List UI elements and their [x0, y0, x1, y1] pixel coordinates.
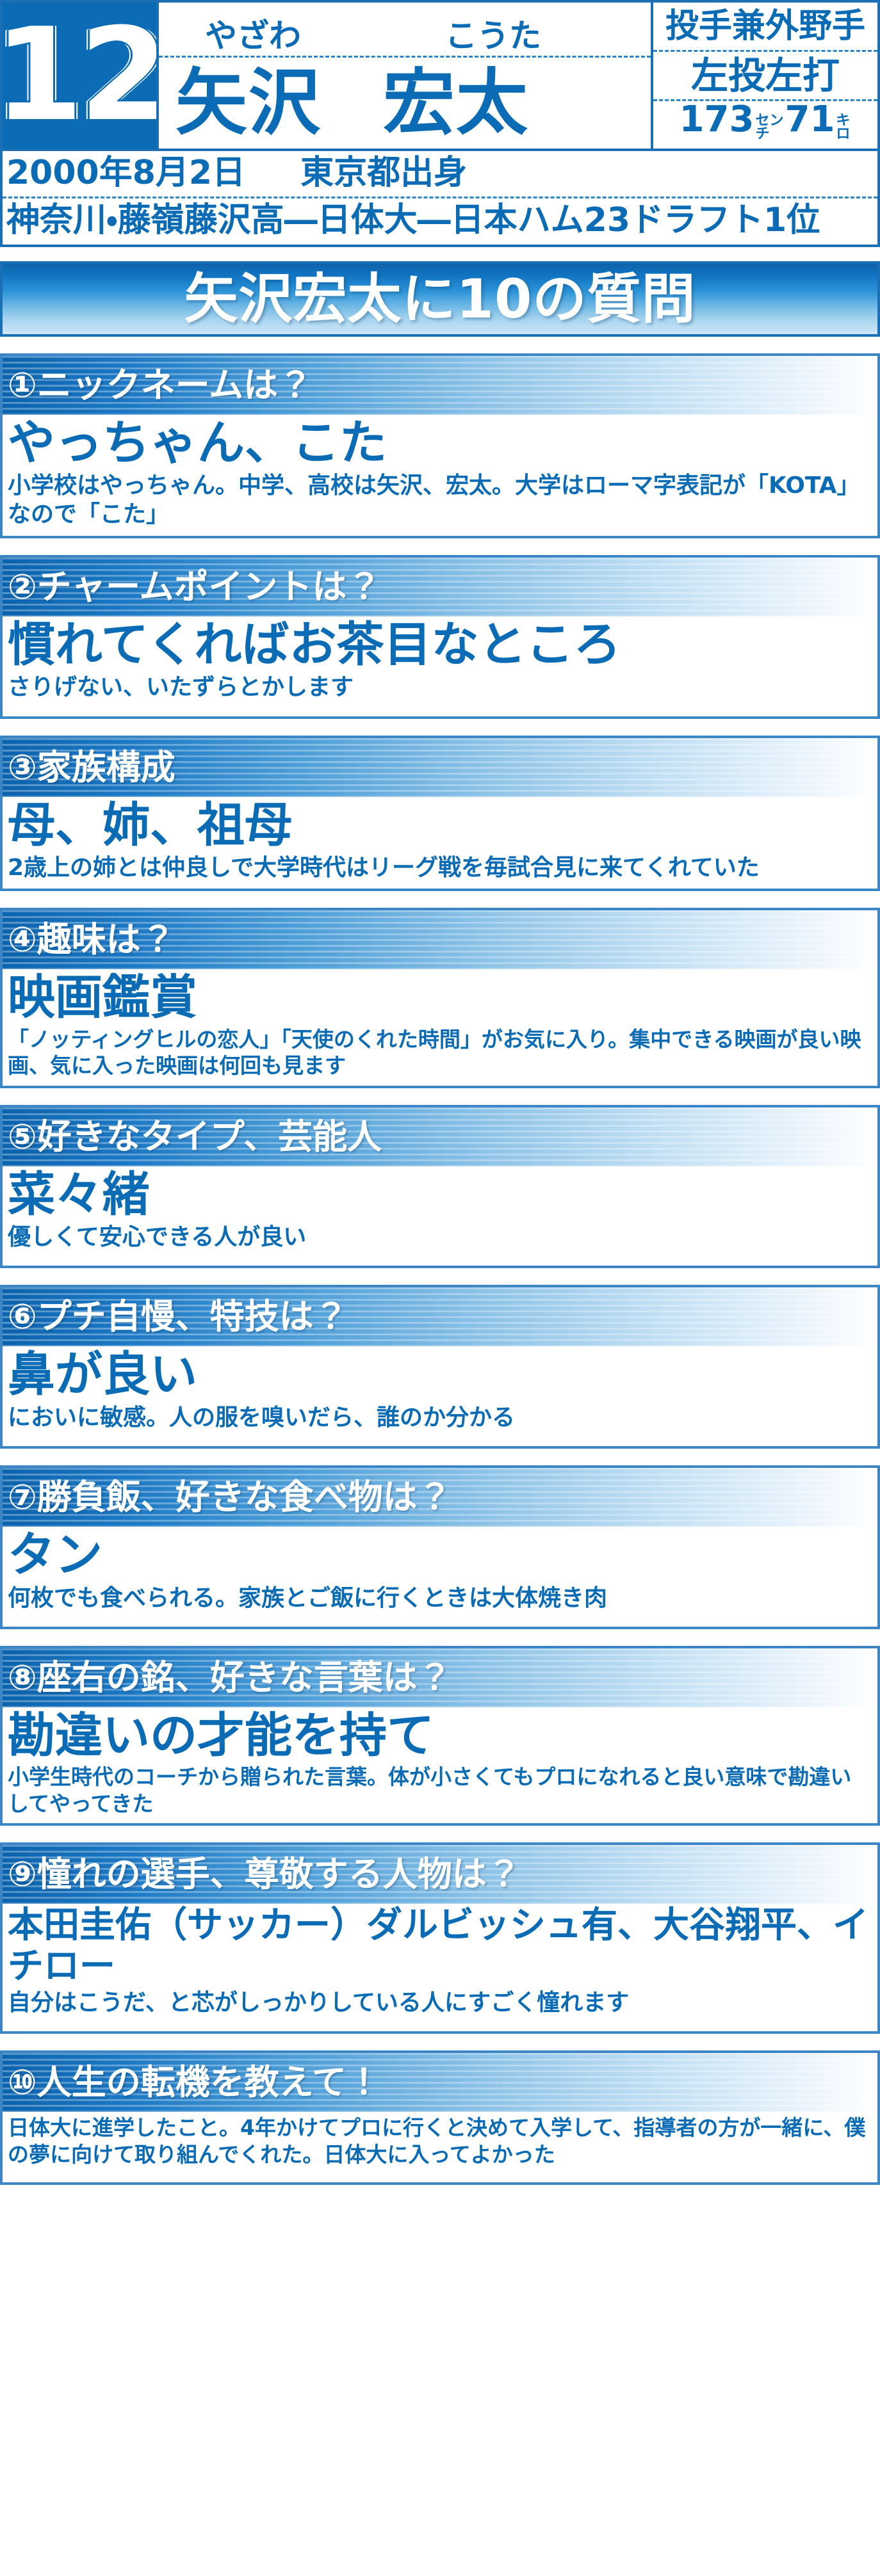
answer-text-2: 慣れてくればお茶目なところ — [8, 618, 872, 672]
birth-row: 2000年8月2日東京都出身 — [3, 151, 877, 198]
height-unit: セン チ — [755, 115, 783, 141]
throws-bats-row: 左投左打 — [653, 52, 877, 101]
answer-body-7: タン 何枚でも食べられる。家族とご飯に行くときは大体焼き肉 — [3, 1527, 877, 1627]
question-text-5: ⑤好きなタイプ、芸能人 — [3, 1120, 382, 1154]
question-text-9: ⑨憧れの選手、尊敬する人物は？ — [3, 1857, 521, 1892]
answer-text-5: 菜々緒 — [8, 1168, 872, 1221]
height-weight: 173 セン チ 71 キ ロ — [680, 102, 852, 148]
question-text-6: ⑥プチ自慢、特技は？ — [3, 1300, 348, 1334]
qa-card-8: ⑧座右の銘、好きな言葉は？ 勘違いの才能を持て 小学生時代のコーチから贈られた言… — [0, 1646, 880, 1826]
hometown: 東京都出身 — [300, 154, 467, 192]
title-banner: 矢沢宏太に10の質問 — [0, 261, 880, 337]
question-header-2: ②チャームポイントは？ — [3, 558, 877, 616]
qa-card-10: ⑩人生の転機を教えて！ 日体大に進学したこと。4年かけてプロに行くと決めて入学し… — [0, 2050, 880, 2184]
answer-body-2: 慣れてくればお茶目なところ さりげない、いたずらとかします — [3, 616, 877, 716]
card-spacer-9 — [8, 2017, 872, 2025]
qa-card-2: ②チャームポイントは？ 慣れてくればお茶目なところ さりげない、いたずらとかしま… — [0, 555, 880, 719]
answer-note-6: においに敏感。人の服を嗅いだら、誰のか分かる — [8, 1403, 872, 1432]
question-header-3: ③家族構成 — [3, 738, 877, 797]
answer-body-5: 菜々緒 優しくて安心できる人が良い — [3, 1166, 877, 1266]
card-spacer-6 — [8, 1432, 872, 1440]
answer-text-3: 母、姉、祖母 — [8, 798, 872, 852]
answer-body-8: 勘違いの才能を持て 小学生時代のコーチから贈られた言葉。体が小さくてもプロになれ… — [3, 1707, 877, 1824]
height-weight-row: 173 セン チ 71 キ ロ — [653, 101, 877, 149]
banner-title: 矢沢宏太に10の質問 — [184, 272, 696, 326]
birthdate: 2000年8月2日 — [6, 154, 245, 192]
qa-card-5: ⑤好きなタイプ、芸能人 菜々緒 優しくて安心できる人が良い — [0, 1105, 880, 1269]
answer-note-10: 日体大に進学したこと。4年かけてプロに行くと決めて入学して、指導者の方が一緒に、… — [8, 2114, 872, 2168]
answer-body-10: 日体大に進学したこと。4年かけてプロに行くと決めて入学して、指導者の方が一緒に、… — [3, 2112, 877, 2182]
card-spacer-10 — [8, 2168, 872, 2176]
question-text-4: ④趣味は？ — [3, 922, 175, 957]
furigana-first-name: こうた — [445, 20, 541, 56]
question-text-10: ⑩人生の転機を教えて！ — [3, 2065, 381, 2100]
answer-note-4: 「ノッティングヒルの恋人」「天使のくれた時間」がお気に入り。集中できる映画が良い… — [8, 1026, 872, 1079]
answer-note-5: 優しくて安心できる人が良い — [8, 1223, 872, 1252]
question-header-6: ⑥プチ自慢、特技は？ — [3, 1287, 877, 1346]
answer-body-6: 鼻が良い においに敏感。人の服を嗅いだら、誰のか分かる — [3, 1346, 877, 1446]
stats-box: 投手兼外野手 左投左打 173 セン チ 71 キ ロ — [651, 3, 877, 149]
question-text-3: ③家族構成 — [3, 750, 175, 785]
furigana-row: やざわ こうた — [159, 3, 651, 58]
qa-card-4: ④趣味は？ 映画鑑賞 「ノッティングヒルの恋人」「天使のくれた時間」がお気に入り… — [0, 908, 880, 1088]
question-header-4: ④趣味は？ — [3, 910, 877, 969]
qa-card-7: ⑦勝負飯、好きな食べ物は？ タン 何枚でも食べられる。家族とご飯に行くときは大体… — [0, 1465, 880, 1629]
qa-card-6: ⑥プチ自慢、特技は？ 鼻が良い においに敏感。人の服を嗅いだら、誰のか分かる — [0, 1285, 880, 1449]
answer-note-9: 自分はこうだ、と芯がしっかりしている人にすごく憧れます — [8, 1988, 872, 2017]
position-value: 投手兼外野手 — [665, 10, 865, 43]
player-profile-page: 12 やざわ こうた 矢沢 宏太 投手兼外野手 左投左打 173 — [0, 0, 880, 2185]
position-row: 投手兼外野手 — [653, 3, 877, 52]
question-header-7: ⑦勝負飯、好きな食べ物は？ — [3, 1468, 877, 1527]
name-row: 矢沢 宏太 — [159, 58, 651, 149]
answer-text-4: 映画鑑賞 — [8, 970, 872, 1024]
question-header-5: ⑤好きなタイプ、芸能人 — [3, 1107, 877, 1166]
weight-unit: キ ロ — [836, 115, 850, 141]
furigana-last-name: やざわ — [205, 20, 301, 56]
answer-text-6: 鼻が良い — [8, 1348, 872, 1401]
answer-body-4: 映画鑑賞 「ノッティングヒルの恋人」「天使のくれた時間」がお気に入り。集中できる… — [3, 969, 877, 1086]
uniform-number-box: 12 — [3, 3, 156, 149]
qa-card-1: ①ニックネームは？ やっちゃん、こた 小学校はやっちゃん。中学、高校は矢沢、宏太… — [0, 353, 880, 538]
question-text-2: ②チャームポイントは？ — [3, 570, 382, 604]
card-spacer-5 — [8, 1252, 872, 1259]
question-header-9: ⑨憧れの選手、尊敬する人物は？ — [3, 1845, 877, 1904]
qa-card-9: ⑨憧れの選手、尊敬する人物は？ 本田圭佑（サッカー）ダルビッシュ有、大谷翔平、イ… — [0, 1842, 880, 2034]
answer-text-9: 本田圭佑（サッカー）ダルビッシュ有、大谷翔平、イチロー — [8, 1905, 872, 1987]
answer-body-9: 本田圭佑（サッカー）ダルビッシュ有、大谷翔平、イチロー 自分はこうだ、と芯がしっ… — [3, 1904, 877, 2031]
answer-note-3: 2歳上の姉とは仲良しで大学時代はリーグ戦を毎試合見に来てくれていた — [8, 853, 872, 882]
answer-note-8: 小学生時代のコーチから贈られた言葉。体が小さくてもプロになれると良い意味で勘違い… — [8, 1764, 872, 1817]
answer-body-1: やっちゃん、こた 小学校はやっちゃん。中学、高校は矢沢、宏太。大学はローマ字表記… — [3, 415, 877, 536]
card-spacer-2 — [8, 702, 872, 710]
qa-card-3: ③家族構成 母、姉、祖母 2歳上の姉とは仲良しで大学時代はリーグ戦を毎試合見に来… — [0, 736, 880, 892]
card-spacer-7 — [8, 1613, 872, 1620]
height-unit-bottom: チ — [755, 128, 783, 141]
last-name: 矢沢 — [175, 67, 322, 139]
question-header-8: ⑧座右の銘、好きな言葉は？ — [3, 1648, 877, 1707]
question-text-8: ⑧座右の銘、好きな言葉は？ — [3, 1661, 452, 1695]
question-header-10: ⑩人生の転機を教えて！ — [3, 2053, 877, 2112]
profile-header: 12 やざわ こうた 矢沢 宏太 投手兼外野手 左投左打 173 — [0, 0, 880, 151]
first-name: 宏太 — [383, 67, 529, 139]
answer-body-3: 母、姉、祖母 2歳上の姉とは仲良しで大学時代はリーグ戦を毎試合見に来てくれていた — [3, 797, 877, 889]
question-text-1: ①ニックネームは？ — [3, 368, 313, 403]
answer-note-2: さりげない、いたずらとかします — [8, 673, 872, 702]
name-box: やざわ こうた 矢沢 宏太 — [156, 3, 651, 149]
question-header-1: ①ニックネームは？ — [3, 356, 877, 415]
throws-bats-value: 左投左打 — [691, 57, 840, 94]
answer-note-1: 小学校はやっちゃん。中学、高校は矢沢、宏太。大学はローマ字表記が「KOTA」なの… — [8, 471, 872, 529]
bio-block: 2000年8月2日東京都出身 神奈川・藤嶺藤沢高―日体大―日本ハム23ドラフト1… — [0, 151, 880, 247]
answer-text-1: やっちゃん、こた — [8, 416, 872, 470]
question-text-7: ⑦勝負飯、好きな食べ物は？ — [3, 1480, 452, 1515]
weight-unit-bottom: ロ — [836, 128, 850, 141]
answer-note-7: 何枚でも食べられる。家族とご飯に行くときは大体焼き肉 — [8, 1584, 872, 1613]
answer-text-7: タン — [8, 1528, 872, 1582]
answer-text-8: 勘違いの才能を持て — [8, 1709, 872, 1762]
weight-value: 71 — [785, 102, 835, 138]
career-row: 神奈川・藤嶺藤沢高―日体大―日本ハム23ドラフト1位 — [3, 198, 877, 244]
height-value: 173 — [680, 102, 754, 138]
uniform-number: 12 — [0, 23, 165, 128]
